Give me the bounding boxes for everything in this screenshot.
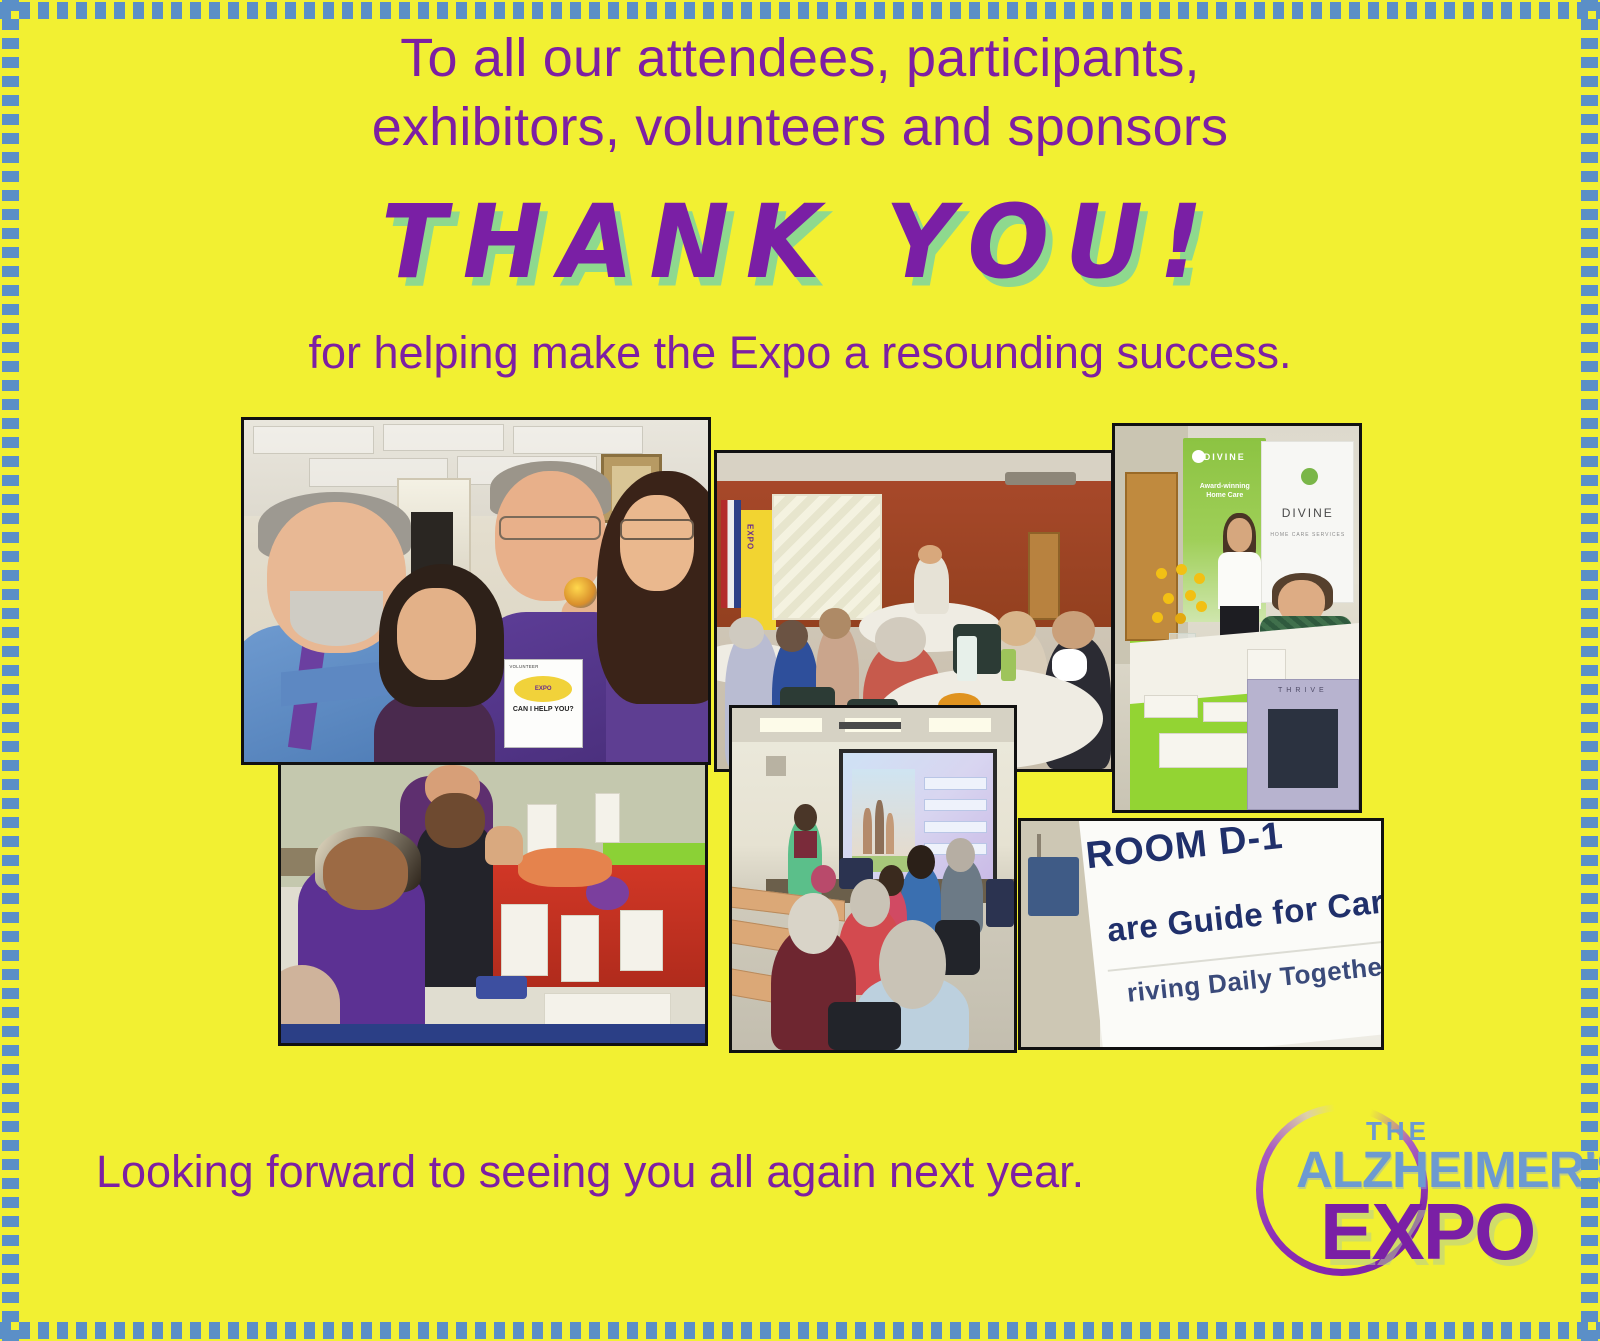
divine-sign-sub: HOME CARE SERVICES [1268,532,1348,538]
photo-seminar-room [729,705,1017,1053]
photo-divine-booth: DIVINE Award-winning Home Care DIVINE HO… [1112,423,1362,813]
divine-banner-brand: DIVINE [1190,452,1260,462]
photo-banner-label: EXPO [746,524,755,550]
volunteer-badge: VOLUNTEER EXPO CAN I HELP YOU? [504,659,583,748]
photo-volunteers-selfie: VOLUNTEER EXPO CAN I HELP YOU? [241,417,711,765]
border-dash-left [2,0,19,1341]
photo-caregiver-banner: ROOM D-1 are Guide for Caregivers riving… [1018,818,1384,1050]
border-dash-right [1581,0,1598,1341]
photo-vendor-table [278,762,708,1046]
flyer-canvas: To all our attendees, participants, exhi… [0,0,1600,1341]
divine-sign-brand: DIVINE [1268,506,1348,520]
banner-line-3: riving Daily Together [1125,950,1384,1009]
badge-question-label: CAN I HELP YOU? [511,706,576,715]
border-dash-top [0,2,1600,19]
badge-role-label: VOLUNTEER [509,664,538,669]
alzheimers-expo-logo: THE ALZHEIMER'S EXPO [1248,1086,1538,1286]
divine-banner-tagline: Award-winning Home Care [1190,482,1260,500]
border-dash-bottom [0,1322,1600,1339]
thrive-sign-label: THRIVE [1254,687,1351,694]
logo-expo-text: EXPO [1320,1186,1534,1278]
banner-line-2: are Guide for Caregivers [1105,870,1384,949]
badge-expo-logo: EXPO [514,676,572,702]
banner-line-1: ROOM D-1 [1083,818,1284,878]
